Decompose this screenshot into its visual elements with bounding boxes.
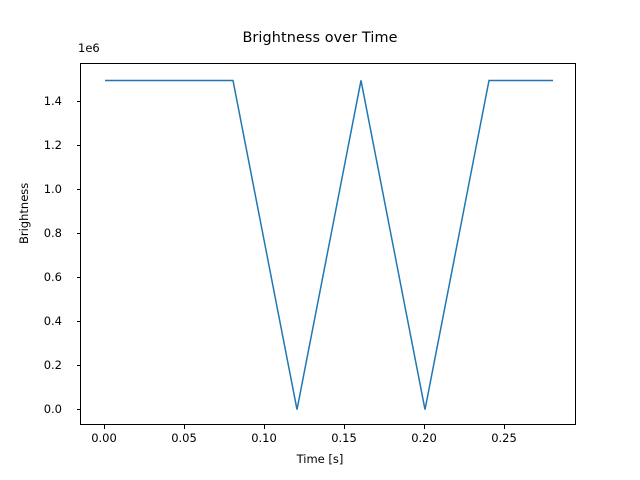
x-tick-label: 0.05 [171,431,197,445]
plot-axes-area [80,63,576,425]
x-tick-label: 0.25 [491,431,517,445]
x-tick-mark [264,425,265,429]
y-tick-mark [77,277,81,278]
y-axis-offset-label: 1e6 [78,41,100,55]
x-tick-mark [184,425,185,429]
y-tick-mark [77,189,81,190]
x-tick-label: 0.00 [91,431,117,445]
y-tick-label: 1.0 [44,182,62,196]
y-tick-label: 0.4 [44,314,62,328]
x-tick-label: 0.15 [331,431,357,445]
x-tick-mark [504,425,505,429]
x-tick-label: 0.20 [411,431,437,445]
y-tick-mark [77,101,81,102]
y-tick-mark [77,365,81,366]
x-axis-label: Time [s] [0,452,640,466]
y-tick-mark [77,233,81,234]
y-tick-label: 0.8 [44,226,62,240]
plot-svg [81,64,577,426]
y-tick-mark [77,321,81,322]
x-tick-label: 0.10 [251,431,277,445]
y-axis-label: Brightness [17,183,31,244]
brightness-line-series [105,80,553,409]
y-tick-label: 0.6 [44,270,62,284]
x-tick-mark [104,425,105,429]
x-tick-mark [424,425,425,429]
y-tick-mark [77,145,81,146]
y-tick-label: 0.0 [44,402,62,416]
matplotlib-figure: Brightness over Time 1e6 0.000.050.100.1… [0,0,640,480]
x-tick-mark [344,425,345,429]
y-tick-label: 1.4 [44,94,62,108]
y-tick-label: 0.2 [44,358,62,372]
y-tick-mark [77,409,81,410]
y-tick-label: 1.2 [44,138,62,152]
